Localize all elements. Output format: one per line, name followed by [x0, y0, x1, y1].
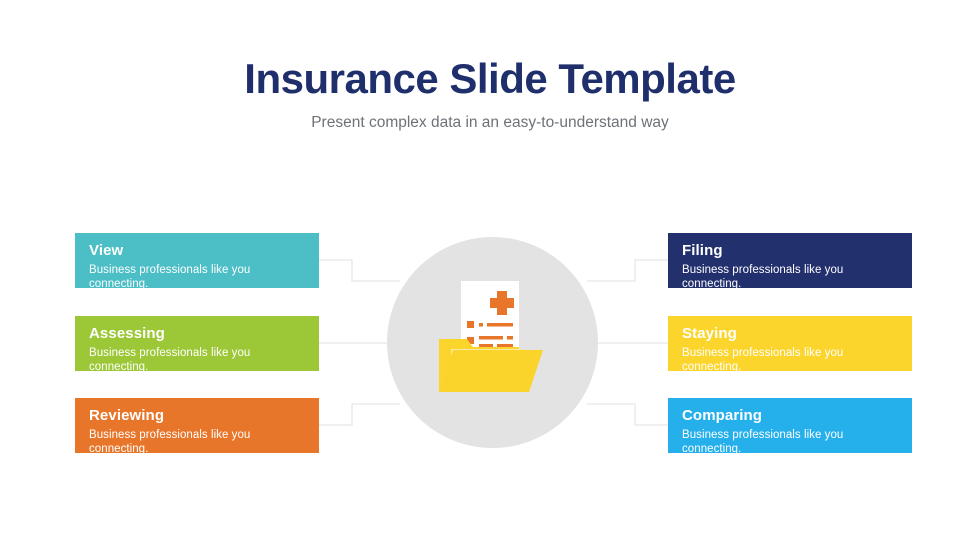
process-card-reviewing[interactable]: Reviewing Business professionals like yo… — [75, 398, 319, 453]
card-description: Business professionals like you connecti… — [682, 263, 898, 289]
card-title: View — [89, 241, 305, 261]
card-title: Assessing — [89, 324, 305, 344]
card-title: Staying — [682, 324, 898, 344]
process-card-view[interactable]: View Business professionals like you con… — [75, 233, 319, 288]
insurance-process-diagram: View Business professionals like you con… — [0, 0, 980, 551]
card-title: Comparing — [682, 406, 898, 426]
card-description: Business professionals like you connecti… — [89, 263, 305, 289]
process-card-filing[interactable]: Filing Business professionals like you c… — [668, 233, 912, 288]
card-description: Business professionals like you connecti… — [89, 346, 305, 372]
card-description: Business professionals like you connecti… — [682, 428, 898, 454]
process-card-staying[interactable]: Staying Business professionals like you … — [668, 316, 912, 371]
process-card-comparing[interactable]: Comparing Business professionals like yo… — [668, 398, 912, 453]
card-title: Reviewing — [89, 406, 305, 426]
card-description: Business professionals like you connecti… — [89, 428, 305, 454]
process-card-assessing[interactable]: Assessing Business professionals like yo… — [75, 316, 319, 371]
card-title: Filing — [682, 241, 898, 261]
card-description: Business professionals like you connecti… — [682, 346, 898, 372]
medical-document-folder-icon — [429, 277, 556, 404]
